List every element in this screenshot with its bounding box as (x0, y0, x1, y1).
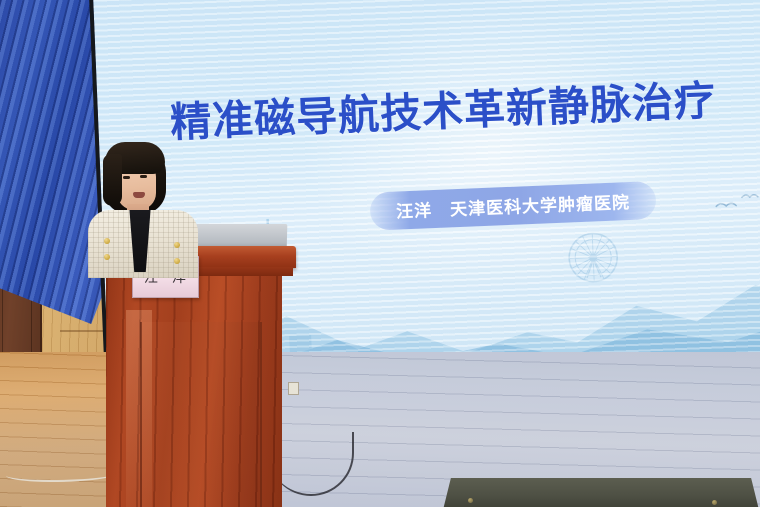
monitor-screw (712, 500, 717, 505)
jacket-button (174, 242, 180, 248)
jacket-button (174, 258, 180, 264)
jacket-button (104, 238, 110, 244)
mouth (133, 192, 145, 198)
jacket-button (104, 254, 110, 260)
podium-body (106, 276, 282, 507)
flying-birds-icon (712, 186, 760, 224)
eye-left (123, 176, 130, 179)
podium-highlight (126, 310, 152, 507)
speaker-podium: 汪 洋 (92, 246, 296, 507)
ferris-wheel-icon (561, 228, 625, 292)
speaker-person (86, 142, 206, 272)
podium-front-panel (140, 322, 262, 507)
eye-right (140, 175, 147, 178)
monitor-screw (468, 498, 473, 503)
conference-presentation-photo: 精准磁导航技术革新静脉治疗 汪洋 天津医科大学肿瘤医院 汪 洋 (0, 0, 760, 507)
hair-side (103, 154, 122, 206)
